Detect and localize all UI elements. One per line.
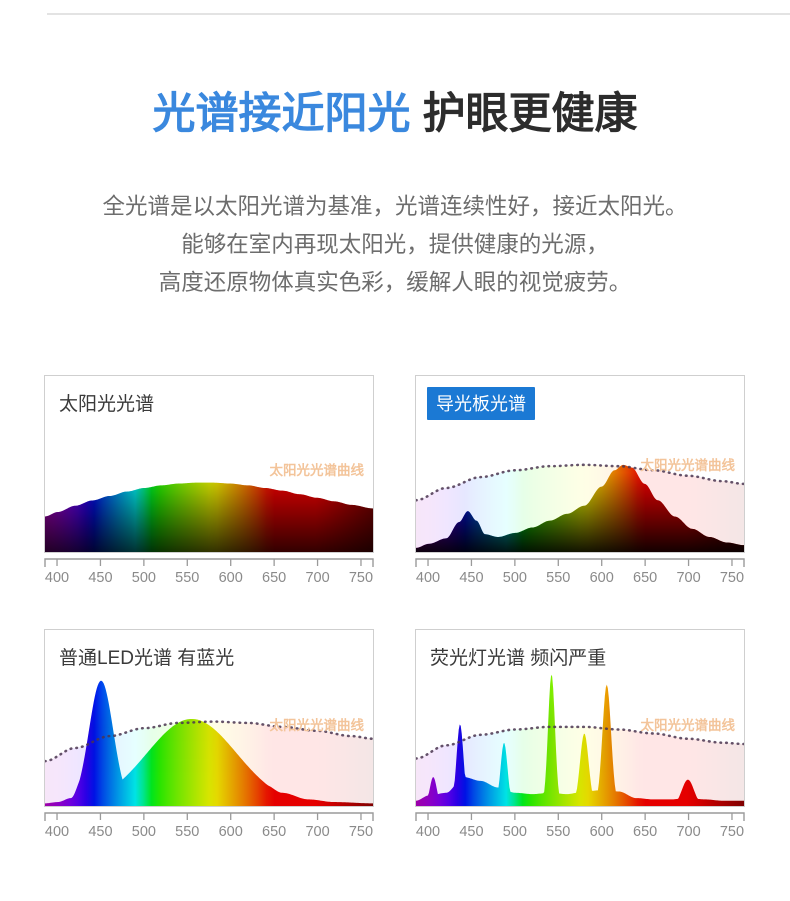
annotation-sunlight: 太阳光光谱曲线 (270, 459, 365, 479)
x-tick-label: 600 (219, 824, 243, 840)
panel-sunlight: 太阳光光谱 太阳光光谱曲线 (44, 375, 374, 553)
x-tick-label: 650 (262, 570, 286, 586)
annotation-lightguide: 太阳光光谱曲线 (641, 454, 736, 474)
x-axis-labels-led: 400450500550600650700750 (44, 824, 374, 846)
x-axis-led: 400450500550600650700750 (44, 811, 374, 851)
x-tick-label: 500 (503, 824, 527, 840)
x-tick-label: 500 (132, 824, 156, 840)
x-tick-label: 700 (305, 570, 329, 586)
panel-led: 普通LED光谱 有蓝光 太阳光光谱曲线 (44, 629, 374, 807)
x-axis-fluorescent: 400450500550600650700750 (415, 811, 745, 851)
x-tick-label: 550 (175, 570, 199, 586)
page-title-blue: 光谱接近阳光 (153, 90, 411, 138)
x-tick-label: 650 (262, 824, 286, 840)
panel-fluorescent: 荧光灯光谱 频闪严重 太阳光光谱曲线 (415, 629, 745, 807)
x-tick-label: 700 (676, 570, 700, 586)
top-divider (47, 13, 790, 15)
page-title: 光谱接近阳光 护眼更健康 (0, 92, 790, 137)
panel-title-fluorescent: 荧光灯光谱 频闪严重 (430, 643, 606, 670)
x-tick-label: 600 (590, 824, 614, 840)
x-tick-label: 750 (720, 824, 744, 840)
x-tick-label: 750 (720, 570, 744, 586)
panel-title-lightguide: 导光板光谱 (427, 387, 535, 420)
x-tick-label: 500 (503, 570, 527, 586)
annotation-led: 太阳光光谱曲线 (270, 714, 365, 734)
x-tick-label: 400 (45, 570, 69, 586)
x-axis-lightguide: 400450500550600650700750 (415, 557, 745, 597)
x-tick-label: 450 (459, 824, 483, 840)
panel-title-led: 普通LED光谱 有蓝光 (59, 643, 234, 670)
x-tick-label: 600 (590, 570, 614, 586)
page-title-dark: 护眼更健康 (422, 90, 637, 138)
spectrum-chart-grid: 太阳光光谱 太阳光光谱曲线 导光板光谱 太阳光光谱曲线 (0, 372, 790, 872)
intro-line-3: 高度还原物体真实色彩，缓解人眼的视觉疲劳。 (0, 264, 790, 302)
intro-line-2: 能够在室内再现太阳光，提供健康的光源， (0, 226, 790, 264)
intro-line-1: 全光谱是以太阳光谱为基准，光谱连续性好，接近太阳光。 (0, 188, 790, 226)
x-tick-label: 550 (546, 570, 570, 586)
x-tick-label: 400 (45, 824, 69, 840)
x-tick-label: 650 (633, 824, 657, 840)
x-tick-label: 450 (88, 570, 112, 586)
panel-lightguide: 导光板光谱 太阳光光谱曲线 (415, 375, 745, 553)
x-tick-label: 650 (633, 570, 657, 586)
x-tick-label: 400 (416, 570, 440, 586)
x-axis-sunlight: 400450500550600650700750 (44, 557, 374, 597)
x-tick-label: 750 (349, 570, 373, 586)
x-tick-label: 700 (305, 824, 329, 840)
x-axis-labels-lightguide: 400450500550600650700750 (415, 570, 745, 592)
x-tick-label: 550 (546, 824, 570, 840)
x-axis-labels-sunlight: 400450500550600650700750 (44, 570, 374, 592)
x-tick-label: 550 (175, 824, 199, 840)
annotation-fluorescent: 太阳光光谱曲线 (641, 714, 736, 734)
x-axis-labels-fluorescent: 400450500550600650700750 (415, 824, 745, 846)
x-tick-label: 450 (88, 824, 112, 840)
x-tick-label: 500 (132, 570, 156, 586)
x-tick-label: 600 (219, 570, 243, 586)
x-tick-label: 750 (349, 824, 373, 840)
x-tick-label: 450 (459, 570, 483, 586)
panel-title-sunlight: 太阳光光谱 (59, 389, 154, 416)
x-tick-label: 700 (676, 824, 700, 840)
x-tick-label: 400 (416, 824, 440, 840)
intro-paragraph: 全光谱是以太阳光谱为基准，光谱连续性好，接近太阳光。 能够在室内再现太阳光，提供… (0, 188, 790, 302)
